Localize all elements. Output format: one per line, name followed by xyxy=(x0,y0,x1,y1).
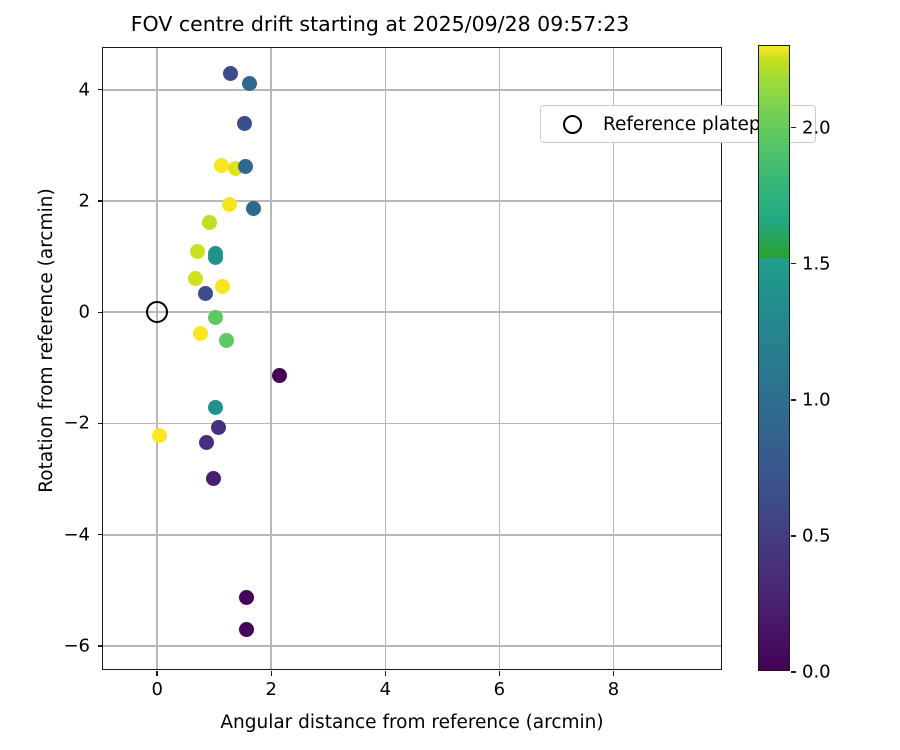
gridline-horizontal xyxy=(103,645,721,647)
scatter-point xyxy=(242,76,257,91)
colorbar-tick-mark xyxy=(791,535,796,536)
y-tick-mark xyxy=(98,89,103,90)
x-tick-mark xyxy=(156,671,157,676)
y-tick-mark xyxy=(98,200,103,201)
y-tick-label: −4 xyxy=(63,524,90,545)
colorbar-tick-mark xyxy=(791,671,796,672)
y-tick-label: −6 xyxy=(63,635,90,656)
scatter-point xyxy=(239,622,254,637)
scatter-point xyxy=(188,271,203,286)
legend-entry-label: Reference platepar xyxy=(603,114,780,135)
scatter-point xyxy=(237,116,252,131)
gridline-vertical xyxy=(270,48,272,669)
scatter-point xyxy=(193,326,208,341)
scatter-point xyxy=(208,310,223,325)
scatter-point xyxy=(152,428,167,443)
colorbar-tick-label: 1.0 xyxy=(802,389,831,410)
scatter-point xyxy=(198,286,213,301)
reference-platepar-point xyxy=(146,301,168,323)
colorbar-tick-mark xyxy=(791,263,796,264)
scatter-point xyxy=(246,201,261,216)
scatter-point xyxy=(214,158,229,173)
x-tick-mark xyxy=(271,671,272,676)
reference-platepar-marker-icon xyxy=(563,115,582,134)
scatter-point xyxy=(190,244,205,259)
gridline-horizontal xyxy=(103,311,721,313)
x-tick-label: 0 xyxy=(151,679,162,700)
colorbar: 0.00.51.01.52.0 xyxy=(758,45,790,671)
scatter-point xyxy=(208,400,223,415)
x-tick-mark xyxy=(385,671,386,676)
scatter-point xyxy=(199,435,214,450)
x-tick-label: 4 xyxy=(380,679,391,700)
scatter-point xyxy=(215,279,230,294)
y-tick-label: −2 xyxy=(63,413,90,434)
scatter-point xyxy=(211,420,226,435)
scatter-point xyxy=(219,333,234,348)
scatter-point xyxy=(238,159,253,174)
x-tick-label: 8 xyxy=(608,679,619,700)
gridline-vertical xyxy=(385,48,387,669)
y-axis-label: Rotation from reference (arcmin) xyxy=(36,29,57,652)
y-tick-label: 0 xyxy=(79,302,90,323)
gridline-horizontal xyxy=(103,423,721,425)
scatter-point xyxy=(206,471,221,486)
colorbar-tick-label: 0.5 xyxy=(802,525,831,546)
scatter-plot-axes: Reference platepar 02468−6−4−2024 xyxy=(102,47,722,670)
chart-title: FOV centre drift starting at 2025/09/28 … xyxy=(0,12,760,36)
gridline-horizontal xyxy=(103,89,721,91)
scatter-point xyxy=(272,368,287,383)
scatter-point xyxy=(222,197,237,212)
colorbar-tick-label: 0.0 xyxy=(802,662,831,683)
colorbar-gradient xyxy=(759,46,789,670)
y-tick-label: 2 xyxy=(79,190,90,211)
scatter-point xyxy=(202,215,217,230)
scatter-point xyxy=(208,250,223,265)
gridline-horizontal xyxy=(103,200,721,202)
gridline-vertical xyxy=(499,48,501,669)
x-tick-label: 6 xyxy=(494,679,505,700)
figure-canvas: FOV centre drift starting at 2025/09/28 … xyxy=(0,0,900,750)
colorbar-tick-label: 1.5 xyxy=(802,253,831,274)
colorbar-tick-mark xyxy=(791,127,796,128)
legend-marker-slot xyxy=(541,115,603,134)
y-tick-label: 4 xyxy=(79,79,90,100)
y-tick-mark xyxy=(98,423,103,424)
scatter-point xyxy=(223,66,238,81)
y-tick-mark xyxy=(98,312,103,313)
x-axis-label: Angular distance from reference (arcmin) xyxy=(102,712,722,733)
gridline-vertical xyxy=(156,48,158,669)
y-tick-mark xyxy=(98,645,103,646)
y-tick-mark xyxy=(98,534,103,535)
gridline-horizontal xyxy=(103,534,721,536)
x-tick-mark xyxy=(499,671,500,676)
colorbar-tick-label: 2.0 xyxy=(802,117,831,138)
x-tick-mark xyxy=(613,671,614,676)
colorbar-tick-mark xyxy=(791,399,796,400)
scatter-point xyxy=(239,590,254,605)
x-tick-label: 2 xyxy=(266,679,277,700)
